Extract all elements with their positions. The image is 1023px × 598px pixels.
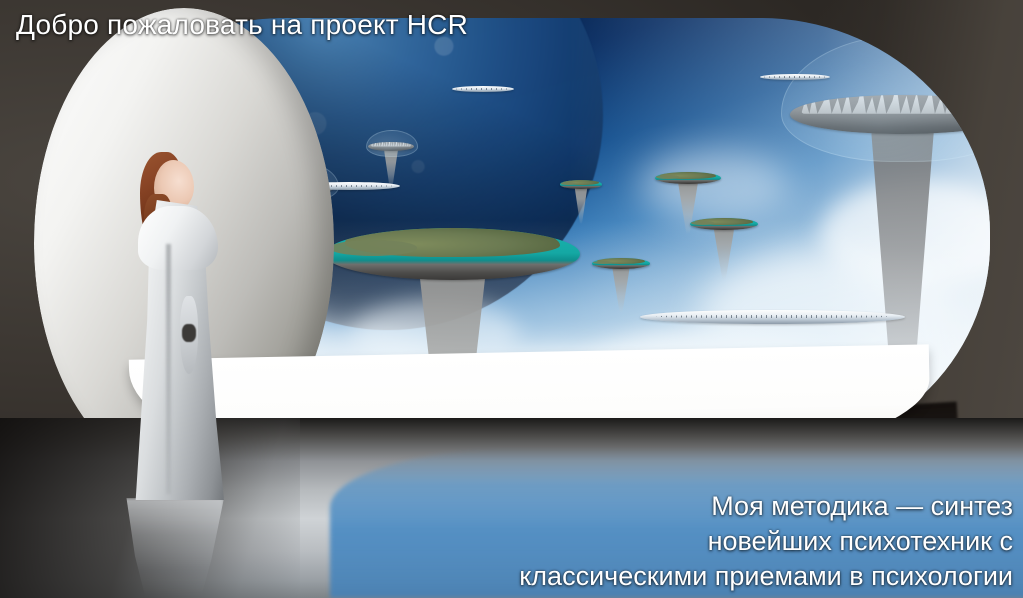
airship-right-top	[760, 74, 830, 80]
woman-robe-fold	[166, 244, 171, 494]
caption-line-2: новейших психотехник с	[519, 524, 1013, 559]
island-city-right	[790, 95, 990, 225]
island-right-low	[690, 218, 758, 252]
island-right-far	[592, 258, 650, 288]
caption-line-1: Моя методика — синтез	[519, 489, 1013, 524]
island-landmass-secondary	[691, 221, 714, 225]
woman-hand	[182, 324, 196, 342]
standing-woman	[120, 148, 228, 500]
caption-line-3: классическими приемами в психологии	[519, 559, 1013, 594]
island-landmass-secondary	[330, 240, 417, 256]
airship-large-lower	[640, 310, 905, 324]
island-mid-upper	[368, 142, 414, 168]
island-mid-small	[560, 180, 602, 204]
airship-small-upper	[452, 86, 514, 92]
island-disc	[592, 258, 650, 269]
island-main-hero	[325, 228, 580, 346]
island-mid-right	[655, 172, 721, 206]
island-disc	[560, 180, 602, 189]
island-disc	[325, 228, 580, 280]
island-landmass-secondary	[561, 182, 575, 185]
island-disc	[655, 172, 721, 184]
island-disc	[690, 218, 758, 230]
island-landmass-secondary	[656, 175, 678, 179]
slide-title: Добро пожаловать на проект HCR	[16, 8, 468, 42]
island-landmass-secondary	[593, 261, 613, 264]
presentation-slide: Добро пожаловать на проект HCR Моя метод…	[0, 0, 1023, 598]
island-dome	[366, 130, 418, 157]
slide-caption: Моя методика — синтез новейших психотехн…	[519, 489, 1013, 594]
woman-shoulder-drape	[138, 206, 218, 270]
